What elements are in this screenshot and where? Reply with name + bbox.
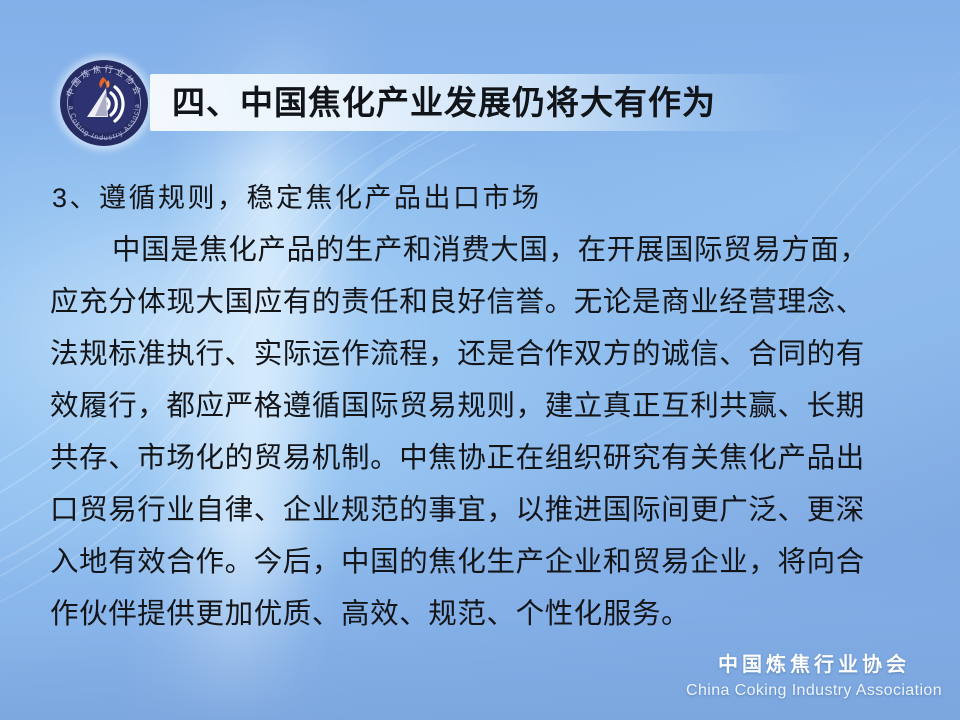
body-paragraph: 中国是焦化产品的生产和消费大国，在开展国际贸易方面， 应充分体现大国应有的责任和… (50, 224, 930, 640)
paragraph-line: 作伙伴提供更加优质、高效、规范、个性化服务。 (50, 588, 930, 640)
paragraph-line: 法规标准执行、实际运作流程，还是合作双方的诚信、合同的有 (50, 328, 930, 380)
footer-name-cn: 中国炼焦行业协会 (684, 652, 944, 678)
paragraph-line: 入地有效合作。今后，中国的焦化生产企业和贸易企业，将向合 (50, 536, 930, 588)
paragraph-line: 应充分体现大国应有的责任和良好信誉。无论是商业经营理念、 (50, 276, 930, 328)
footer-name-en: China Coking Industry Association (684, 680, 944, 702)
footer-branding: 中国炼焦行业协会 China Coking Industry Associati… (684, 652, 944, 702)
section-subtitle: 3、遵循规则，稳定焦化产品出口市场 (52, 176, 542, 215)
paragraph-line: 共存、市场化的贸易机制。中焦协正在组织研究有关焦化产品出 (50, 432, 930, 484)
slide-canvas: 四、中国焦化产业发展仍将大有作为 中国炼焦行业协会 China Coking I… (0, 0, 960, 720)
paragraph-line: 口贸易行业自律、企业规范的事宜，以推进国际间更广泛、更深 (50, 484, 930, 536)
paragraph-line: 中国是焦化产品的生产和消费大国，在开展国际贸易方面， (50, 224, 930, 276)
paragraph-line: 效履行，都应严格遵循国际贸易规则，建立真正互利共赢、长期 (50, 380, 930, 432)
association-logo-icon: 中国炼焦行业协会 China Coking Industry Associati… (59, 59, 149, 147)
association-logo: 中国炼焦行业协会 China Coking Industry Associati… (52, 54, 156, 152)
page-title: 四、中国焦化产业发展仍将大有作为 (172, 76, 716, 130)
